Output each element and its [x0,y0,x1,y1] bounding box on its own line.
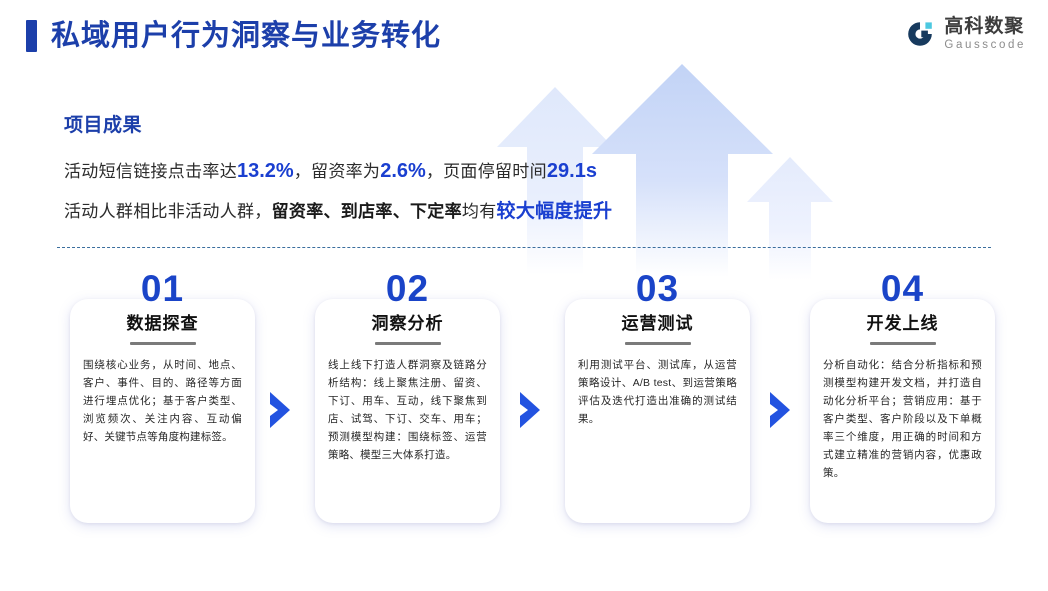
step-description-03: 利用测试平台、测试库，从运营策略设计、A/B test、到运营策略评估及迭代打造… [578,356,737,428]
step-description-02: 线上线下打造人群洞察及链路分析结构：线上聚焦注册、留资、下订、用车、互动，线下聚… [328,356,487,464]
step-number-04: 04 [810,270,995,307]
result-line-2-text-2: 均有 [462,202,497,221]
step-rule-04 [870,342,936,345]
results-section: 项目成果 活动短信链接点击率达13.2%，留资率为2.6%，页面停留时间29.1… [64,110,612,242]
title-accent-bar [26,20,37,52]
page-title: 私域用户行为洞察与业务转化 [26,20,441,52]
step-number-03: 03 [565,270,750,307]
step-card-03[interactable]: 03 运营测试 利用测试平台、测试库，从运营策略设计、A/B test、到运营策… [565,270,750,523]
background-arrow-right [745,155,835,280]
result-line-2: 活动人群相比非活动人群，留资率、到店率、下定率均有较大幅度提升 [64,201,612,224]
step-description-04: 分析自动化：结合分析指标和预测模型构建开发文档，并打造自动化分析平台；营销应用：… [823,356,982,482]
step-title-02: 洞察分析 [328,315,487,334]
process-steps: 01 数据探查 围绕核心业务，从时间、地点、客户、事件、目的、路径等方面进行埋点… [0,270,1048,530]
step-title-01: 数据探查 [83,315,242,334]
result-line-1-text-3: ，页面停留时间 [426,162,547,181]
step-number-01: 01 [70,270,255,307]
step-card-02[interactable]: 02 洞察分析 线上线下打造人群洞察及链路分析结构：线上聚焦注册、留资、下订、用… [315,270,500,523]
logo-name-cn: 高科数聚 [944,17,1026,36]
step-title-03: 运营测试 [578,315,737,334]
logo-name-en: Gausscode [944,40,1026,52]
brand-logo: 高科数聚 Gausscode [905,17,1026,52]
step-rule-01 [130,342,196,345]
step-card-body-02[interactable]: 洞察分析 线上线下打造人群洞察及链路分析结构：线上聚焦注册、留资、下订、用车、互… [315,299,500,523]
background-arrow-center [590,62,775,277]
slide-canvas: 私域用户行为洞察与业务转化 高科数聚 Gausscode 项目成果 活动短信链接… [0,0,1048,591]
slide-title-text: 私域用户行为洞察与业务转化 [51,22,441,51]
result-line-1-text-2: ，留资率为 [294,162,381,181]
step-card-04[interactable]: 04 开发上线 分析自动化：结合分析指标和预测模型构建开发文档，并打造自动化分析… [810,270,995,523]
step-rule-02 [375,342,441,345]
step-number-02: 02 [315,270,500,307]
result-metric-dwell-time: 29.1s [547,160,597,182]
chevron-right-icon-3 [768,390,792,430]
section-divider [57,247,991,248]
chevron-right-icon-2 [518,390,542,430]
results-heading: 项目成果 [64,110,612,137]
logo-text-block: 高科数聚 Gausscode [944,17,1026,52]
step-card-body-03[interactable]: 运营测试 利用测试平台、测试库，从运营策略设计、A/B test、到运营策略评估… [565,299,750,523]
step-card-01[interactable]: 01 数据探查 围绕核心业务，从时间、地点、客户、事件、目的、路径等方面进行埋点… [70,270,255,523]
step-card-body-04[interactable]: 开发上线 分析自动化：结合分析指标和预测模型构建开发文档，并打造自动化分析平台；… [810,299,995,523]
result-line-2-text-1: 活动人群相比非活动人群， [64,202,272,221]
result-line-1: 活动短信链接点击率达13.2%，留资率为2.6%，页面停留时间29.1s [64,159,612,183]
result-line-1-text-1: 活动短信链接点击率达 [64,162,237,181]
chevron-right-icon-1 [268,390,292,430]
slide-header: 私域用户行为洞察与业务转化 高科数聚 Gausscode [0,0,1048,80]
step-rule-03 [625,342,691,345]
result-metric-lead-rate: 2.6% [380,160,426,182]
step-title-04: 开发上线 [823,315,982,334]
step-description-01: 围绕核心业务，从时间、地点、客户、事件、目的、路径等方面进行埋点优化；基于客户类… [83,356,242,446]
result-line-2-highlight: 较大幅度提升 [497,201,613,222]
result-metric-click-rate: 13.2% [237,160,294,182]
gausscode-logo-icon [905,19,935,49]
result-line-2-bold-metrics: 留资率、到店率、下定率 [272,202,462,221]
step-card-body-01[interactable]: 数据探查 围绕核心业务，从时间、地点、客户、事件、目的、路径等方面进行埋点优化；… [70,299,255,523]
